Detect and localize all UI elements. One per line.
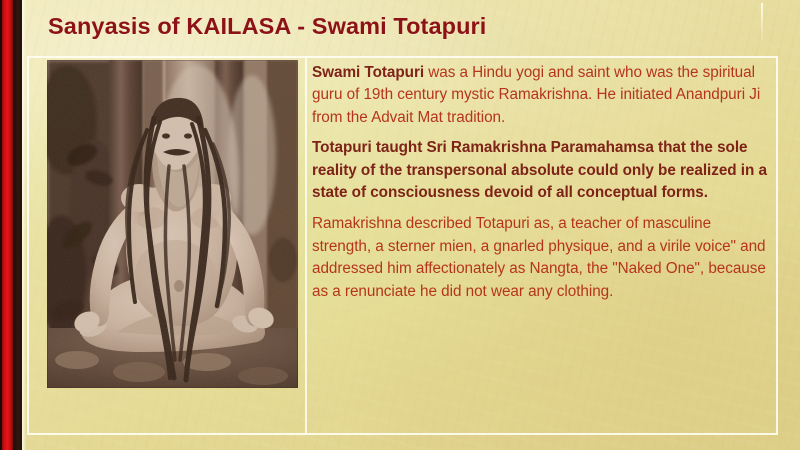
totapuri-photo-illustration — [47, 60, 298, 388]
body-text-column: Swami Totapuri was a Hindu yogi and sain… — [312, 62, 770, 311]
presentation-slide: Sanyasis of KAILASA - Swami Totapuri — [0, 0, 800, 450]
paragraph-1: Swami Totapuri was a Hindu yogi and sain… — [312, 62, 770, 129]
left-edge-red-stripe — [2, 0, 13, 450]
paragraph-1-lead: Swami Totapuri — [312, 64, 424, 81]
slide-title: Sanyasis of KAILASA - Swami Totapuri — [48, 13, 486, 40]
paragraph-3: Ramakrishna described Totapuri as, a tea… — [312, 213, 770, 303]
top-right-tick-mark — [761, 3, 763, 40]
paragraph-2: Totapuri taught Sri Ramakrishna Paramaha… — [312, 137, 770, 204]
left-edge-pale-stripe — [22, 0, 26, 450]
totapuri-photo — [47, 60, 298, 388]
left-edge-dark-stripe — [13, 0, 22, 450]
content-column-divider — [305, 56, 307, 435]
